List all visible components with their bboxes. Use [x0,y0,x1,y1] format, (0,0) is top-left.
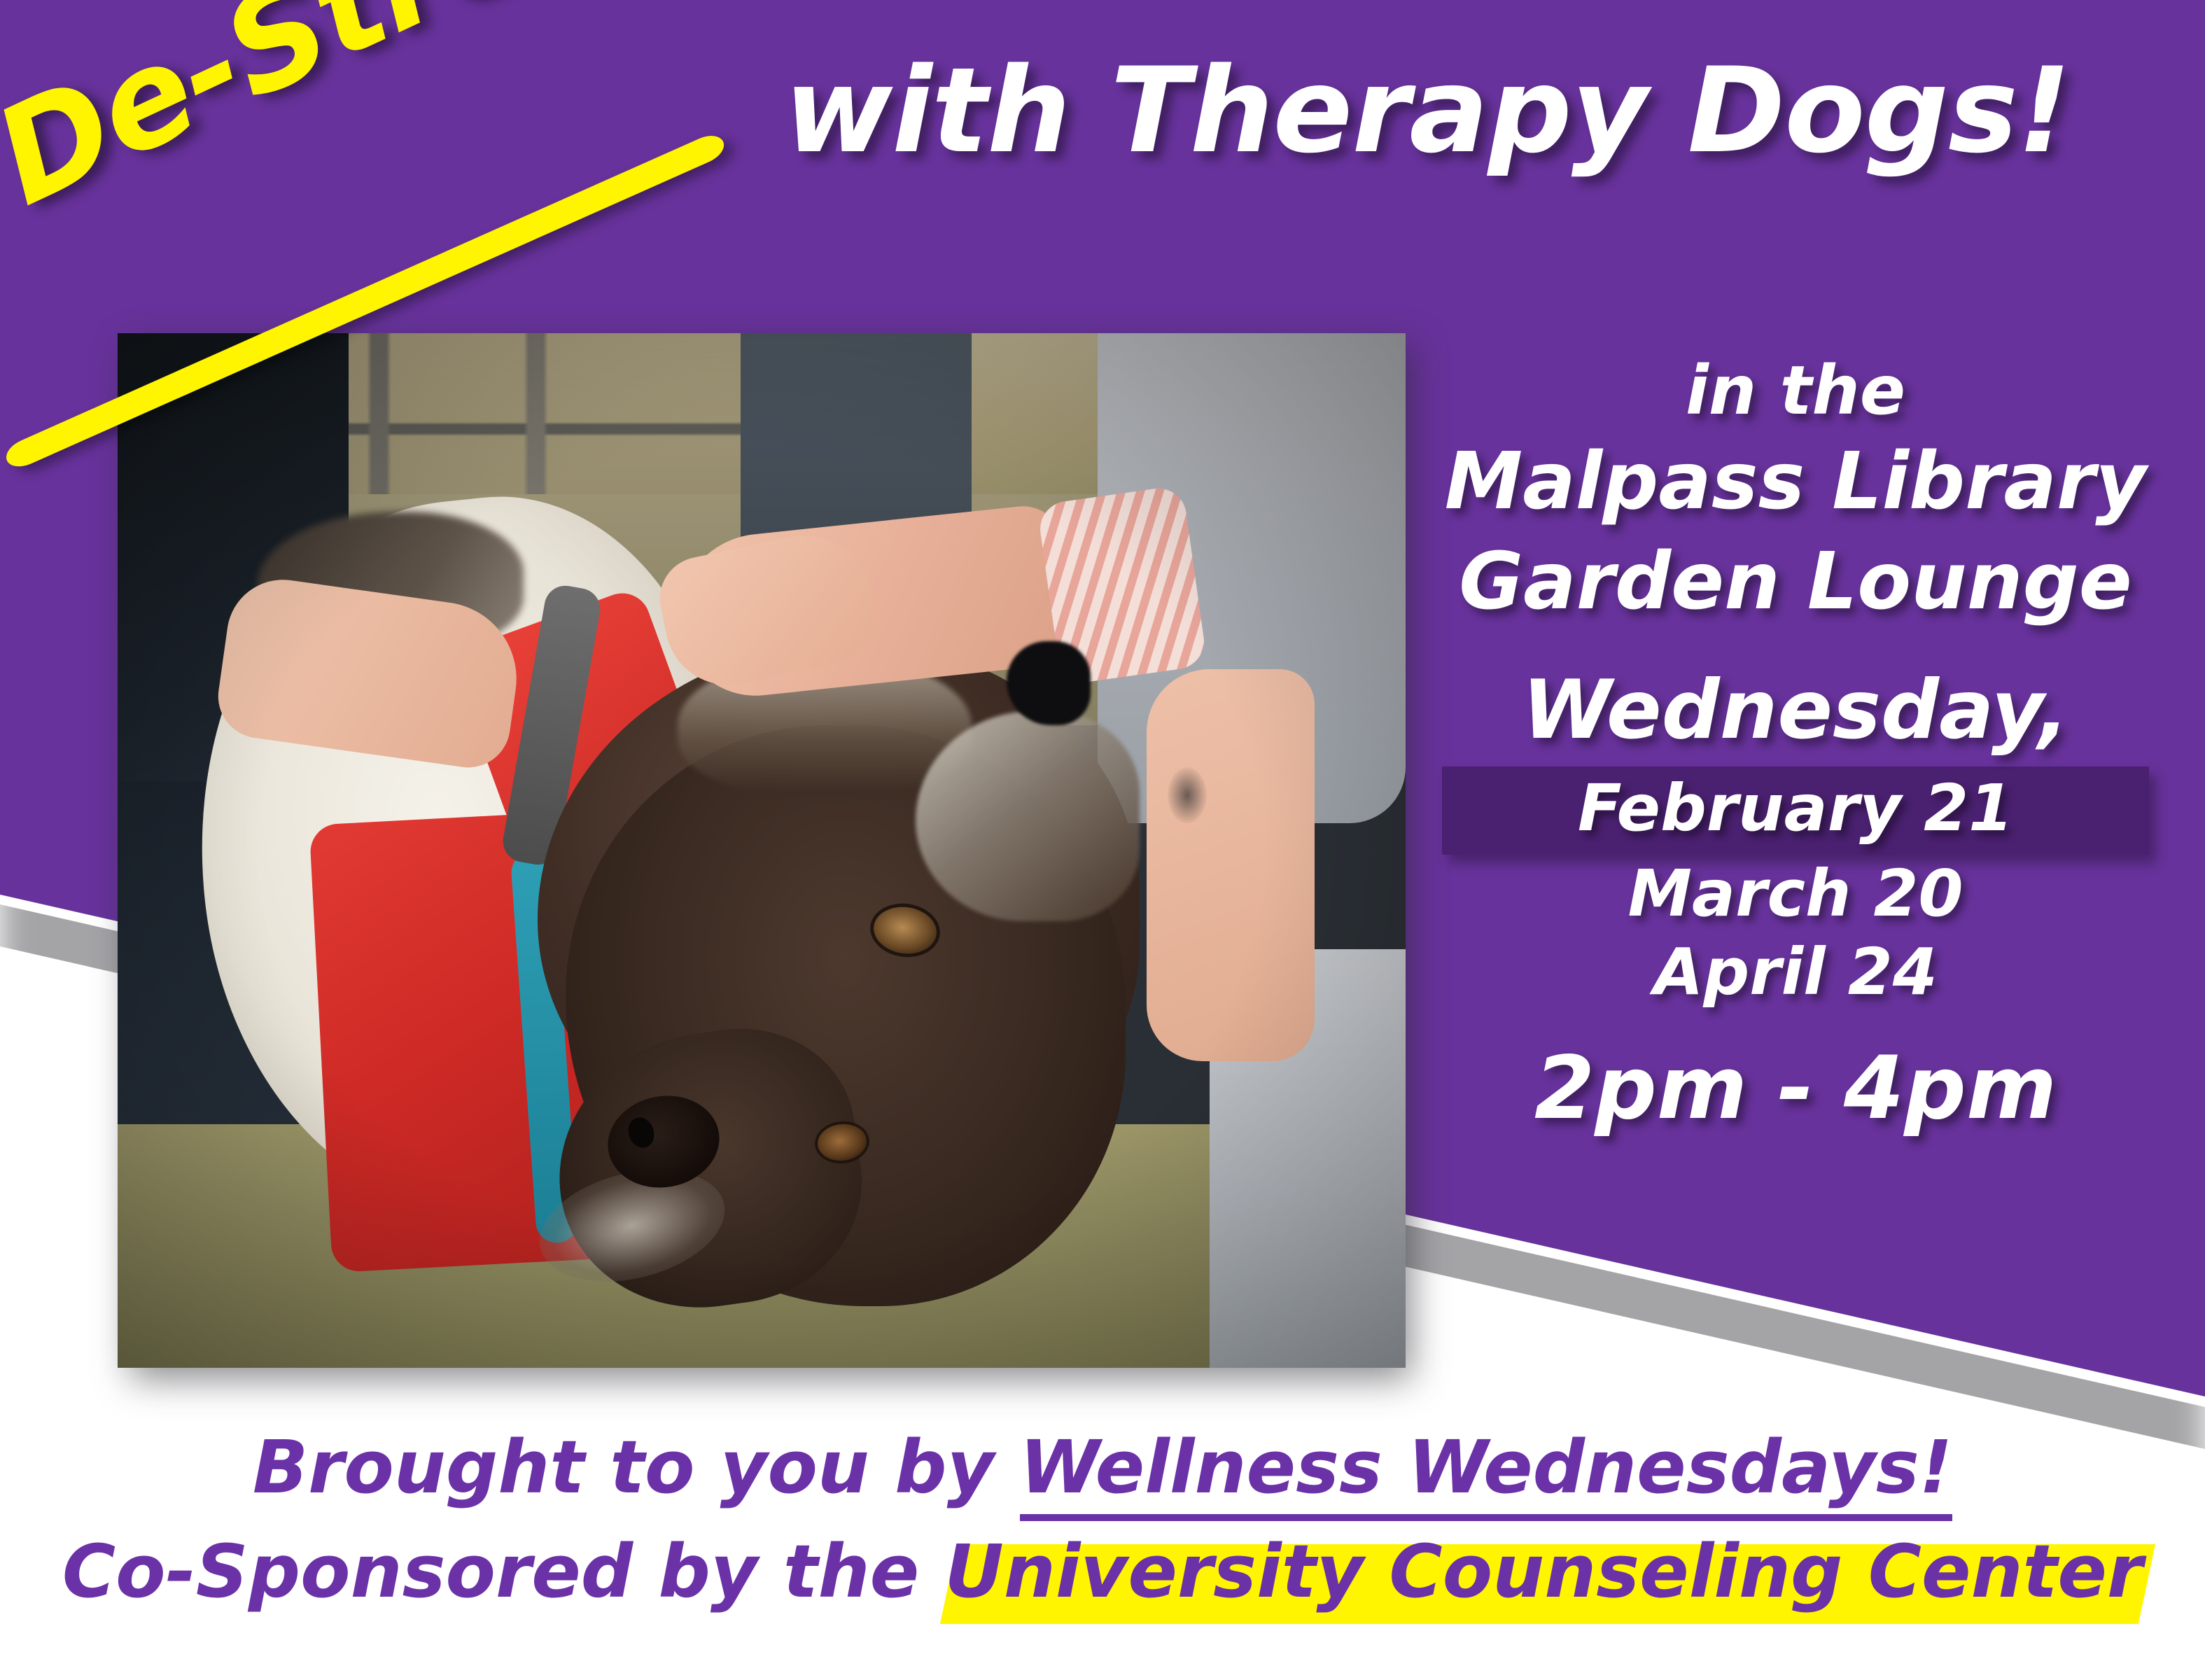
sponsor-credits: Brought to you by Wellness Wednesdays! C… [0,1424,2205,1614]
sponsor-line-2: Co-Sponsored by the University Counselin… [0,1529,2205,1615]
venue-line-2: Garden Lounge [1442,538,2149,626]
photo-vignette [118,333,1406,1368]
event-date-list: February 21 March 20 April 24 [1442,766,2149,1012]
event-day: Wednesday, [1442,670,2149,751]
therapy-dog-photo [118,333,1406,1368]
counseling-center-label: University Counseling Center [944,1529,2143,1614]
photo-content [118,333,1406,1368]
event-date: March 20 [1442,855,2149,933]
sponsor-line-1-prefix: Brought to you by [253,1424,1020,1510]
event-details-column: in the Malpass Library Garden Lounge Wed… [1442,357,2149,1132]
venue-line-1: Malpass Library [1442,438,2149,526]
event-date-highlighted: February 21 [1442,766,2149,855]
event-time: 2pm - 4pm [1442,1045,2149,1132]
wellness-wednesdays-label: Wellness Wednesdays! [1020,1424,1953,1521]
headline-main: with Therapy Dogs! [784,42,2071,179]
sponsor-line-2-prefix: Co-Sponsored by the [62,1529,945,1614]
venue-preposition: in the [1442,357,2149,426]
sponsor-line-1: Brought to you by Wellness Wednesdays! [0,1424,2205,1511]
poster-canvas: De-Stress with Therapy Dogs! in the Malp… [0,0,2205,1680]
event-date: April 24 [1442,933,2149,1011]
counseling-center-text: University Counseling Center [944,1529,2143,1614]
